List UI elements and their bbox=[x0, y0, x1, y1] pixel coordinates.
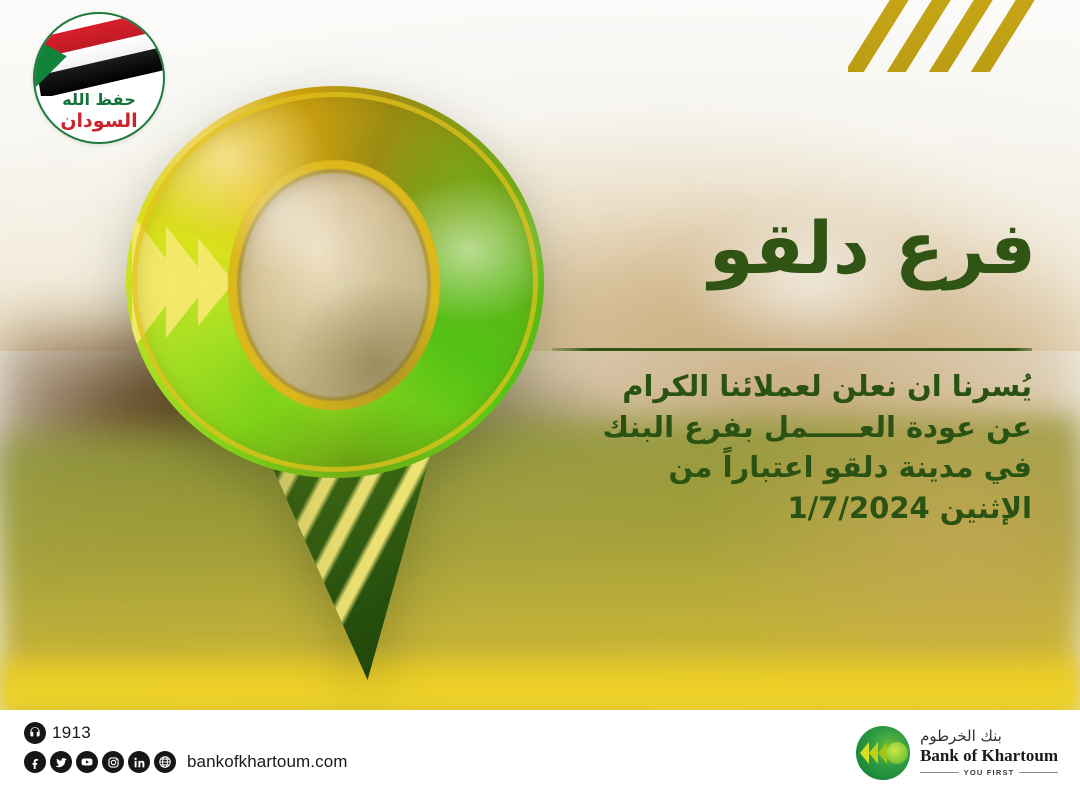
pin-ring-rim bbox=[132, 92, 538, 472]
body-line-4: الإثنين 1/7/2024 bbox=[532, 488, 1032, 529]
location-pin-graphic bbox=[118, 64, 548, 700]
bank-logo-text: بنك الخرطوم Bank of Khartoum YOU FIRST bbox=[920, 729, 1058, 778]
bank-name-arabic: بنك الخرطوم bbox=[920, 729, 1002, 744]
page-title: فرع دلقو bbox=[516, 212, 1036, 284]
body-line-3: في مدينة دلقو اعتباراً من bbox=[532, 447, 1032, 488]
bank-logo-mark bbox=[856, 726, 910, 780]
body-line-2: عن عودة العـــــمل بفرع البنك bbox=[532, 407, 1032, 448]
bank-of-khartoum-logo: بنك الخرطوم Bank of Khartoum YOU FIRST bbox=[856, 726, 1058, 780]
facebook-icon[interactable] bbox=[24, 751, 46, 773]
tagline-rule-left bbox=[920, 772, 959, 773]
bank-tagline-row: YOU FIRST bbox=[920, 768, 1058, 777]
phone-row[interactable]: 1913 bbox=[24, 722, 348, 744]
body-line-1: يُسرنا ان نعلن لعملائنا الكرام bbox=[532, 366, 1032, 407]
contact-info: 1913 bbox=[24, 722, 348, 773]
logo-center-dot bbox=[886, 742, 908, 764]
website-url[interactable]: bankofkhartoum.com bbox=[187, 752, 348, 772]
globe-icon[interactable] bbox=[154, 751, 176, 773]
phone-number: 1913 bbox=[52, 723, 91, 743]
instagram-icon[interactable] bbox=[102, 751, 124, 773]
corner-stripes-decoration bbox=[848, 0, 1080, 72]
social-links: bankofkhartoum.com bbox=[24, 751, 348, 773]
twitter-icon[interactable] bbox=[50, 751, 72, 773]
bank-name-english: Bank of Khartoum bbox=[920, 746, 1058, 766]
announcement-body: يُسرنا ان نعلن لعملائنا الكرام عن عودة ا… bbox=[532, 366, 1032, 528]
linkedin-icon[interactable] bbox=[128, 751, 150, 773]
title-divider bbox=[552, 348, 1032, 351]
footer-bar: 1913 bbox=[0, 710, 1080, 798]
bank-tagline: YOU FIRST bbox=[964, 768, 1015, 777]
tagline-rule-right bbox=[1019, 772, 1058, 773]
announcement-poster: حفظ الله السودان فرع دلقو يُسرنا ان نعلن… bbox=[0, 0, 1080, 798]
logo-chevron-2 bbox=[869, 742, 878, 764]
headset-icon bbox=[24, 722, 46, 744]
youtube-icon[interactable] bbox=[76, 751, 98, 773]
logo-chevron-1 bbox=[860, 742, 869, 764]
